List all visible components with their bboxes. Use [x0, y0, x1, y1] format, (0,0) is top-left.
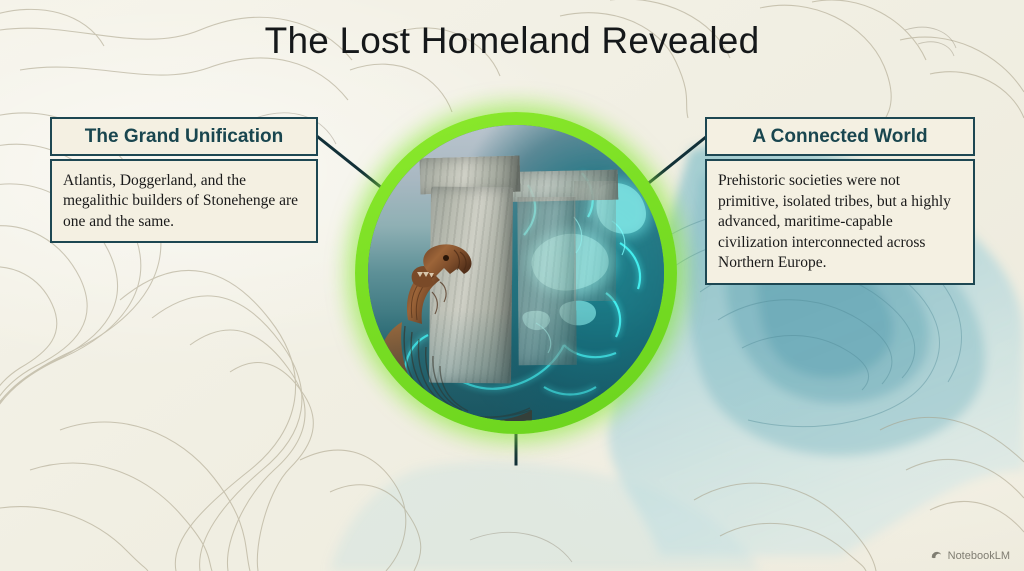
card-connected-world-heading: A Connected World	[705, 117, 975, 156]
upright-stone-back	[574, 181, 616, 301]
infographic-canvas: The Lost Homeland Revealed	[0, 0, 1024, 571]
sea-haze	[368, 309, 664, 421]
notebooklm-logo-icon	[930, 549, 943, 562]
card-connected-world: A Connected World Prehistoric societies …	[705, 117, 975, 285]
central-circular-image	[355, 112, 677, 434]
card-grand-unification-heading: The Grand Unification	[50, 117, 318, 156]
watermark-label: NotebookLM	[948, 550, 1010, 562]
notebooklm-watermark: NotebookLM	[930, 549, 1010, 562]
card-grand-unification-body: Atlantis, Doggerland, and the megalithic…	[50, 159, 318, 243]
card-connected-world-body: Prehistoric societies were not primitive…	[705, 159, 975, 285]
card-grand-unification: The Grand Unification Atlantis, Doggerla…	[50, 117, 318, 243]
circle-photo	[368, 125, 664, 421]
